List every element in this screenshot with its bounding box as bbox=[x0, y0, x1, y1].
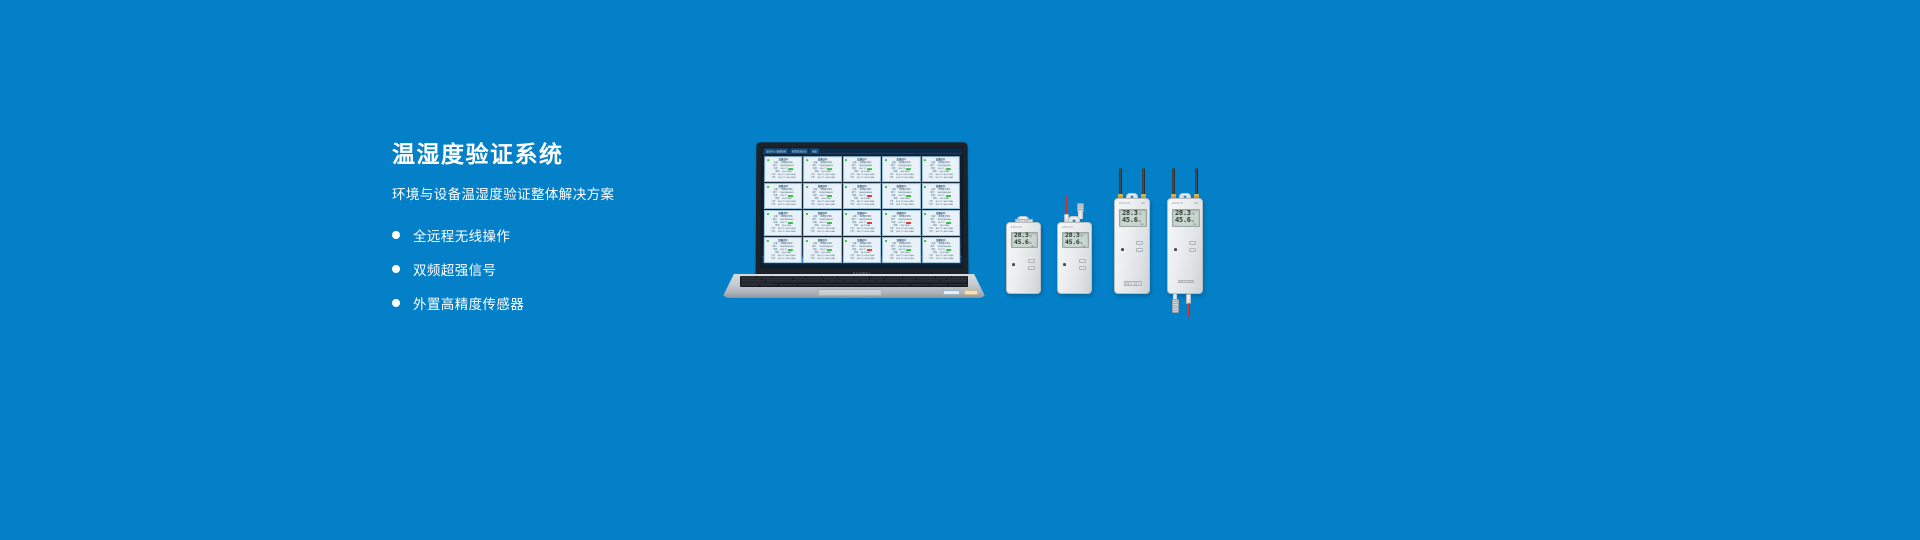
sensor-card[interactable]: 监测点01设备：温湿度记录仪编号：TH2024000001温度：28.3 ℃湿度… bbox=[922, 210, 961, 236]
sensor-field-key: 下限： bbox=[850, 258, 856, 261]
laptop-screen: 监控中心 数据管理 报警查询记录 报表 监测点01设备：温湿度记录仪编号：TH2… bbox=[761, 147, 964, 268]
lcd-humidity-line: 45.6 % bbox=[1065, 239, 1086, 246]
sensor-card-rows: 设备：温湿度记录仪编号：TH2024000001温度：28.3 ℃湿度：45.6… bbox=[885, 243, 918, 260]
normal-badge bbox=[906, 168, 911, 170]
sensor-field-key: 下限： bbox=[771, 177, 777, 180]
menu-item-report[interactable]: 报表 bbox=[810, 148, 819, 153]
page-subtitle: 环境与设备温湿度验证整体解决方案 bbox=[392, 183, 732, 203]
lcd-status: REC bbox=[1175, 224, 1197, 226]
vent-grill bbox=[1124, 281, 1142, 286]
sensor-card-row: 下限：20.0 ℃ / 30.0 %RH bbox=[846, 204, 878, 207]
sensor-card[interactable]: 监测点01设备：温湿度记录仪编号：TH2024000001温度：28.3 ℃湿度… bbox=[921, 156, 959, 182]
sensor-card-title: 监测点01 bbox=[885, 212, 917, 215]
sensor-card-rows: 设备：温湿度记录仪编号：TH2024000001温度：28.3 ℃湿度：45.6… bbox=[806, 162, 838, 179]
lcd-display: 28.3 ℃ 45.6 % REC bbox=[1011, 232, 1038, 248]
sensor-card-rows: 设备：温湿度记录仪编号：TH2024000001温度：28.3 ℃湿度：45.6… bbox=[806, 189, 838, 206]
brand-right: H8 bbox=[1141, 202, 1145, 205]
sensor-status-dot bbox=[766, 240, 768, 242]
sensor-field-value: 20.0 ℃ / 30.0 %RH bbox=[896, 258, 914, 261]
lcd-display: 28.3 ℃ 45.6 % REC bbox=[1062, 232, 1089, 248]
sensor-card[interactable]: 监测点01设备：温湿度记录仪编号：TH2024000001温度：28.3 ℃湿度… bbox=[882, 183, 920, 209]
sensor-status-dot bbox=[845, 186, 847, 188]
normal-badge bbox=[906, 249, 911, 251]
antenna-left bbox=[1119, 168, 1122, 196]
normal-badge bbox=[945, 168, 950, 170]
sensor-status-dot bbox=[767, 186, 769, 188]
sensor-card-rows: 设备：温湿度记录仪编号：TH2024000001温度：28.3 ℃湿度：45.6… bbox=[925, 216, 958, 233]
normal-badge bbox=[788, 249, 793, 251]
bullet-icon bbox=[392, 231, 400, 239]
device-button-down[interactable] bbox=[1136, 248, 1143, 252]
device-body: ENCON H8 28.3 ℃ 45.6 % REC bbox=[1167, 198, 1203, 294]
sensor-card-row: 下限：20.0 ℃ / 30.0 %RH bbox=[885, 231, 917, 234]
certification-sticker bbox=[964, 290, 978, 295]
temperature-unit: ℃ bbox=[1138, 213, 1141, 216]
device-button-up[interactable] bbox=[1189, 241, 1196, 245]
normal-badge bbox=[827, 195, 832, 197]
sensor-status-dot bbox=[924, 186, 926, 188]
humidity-unit: % bbox=[1138, 220, 1141, 223]
sensor-card[interactable]: 监测点01设备：温湿度记录仪编号：TH2024000001温度：28.3 ℃湿度… bbox=[882, 156, 920, 182]
sensor-field-value: 20.0 ℃ / 30.0 %RH bbox=[896, 231, 914, 234]
sensor-card-row: 下限：20.0 ℃ / 30.0 %RH bbox=[885, 258, 918, 261]
normal-badge bbox=[788, 168, 793, 170]
bullet-icon bbox=[392, 265, 400, 273]
sensor-card[interactable]: 监测点01设备：温湿度记录仪编号：TH2024000001温度：28.3 ℃湿度… bbox=[922, 183, 960, 209]
vent-grill bbox=[1178, 280, 1194, 283]
antenna-right bbox=[1142, 168, 1145, 196]
brand-left: ENCON bbox=[1172, 202, 1183, 205]
temperature-unit: ℃ bbox=[1191, 213, 1194, 216]
alarm-badge bbox=[867, 195, 872, 197]
lcd-humidity-line: 45.6 % bbox=[1122, 217, 1144, 224]
sensor-card-title: 监测点01 bbox=[806, 212, 838, 215]
device-brand: ENCON bbox=[1011, 226, 1036, 229]
laptop-base bbox=[722, 274, 986, 298]
sensor-card[interactable]: 监测点01设备：温湿度记录仪编号：TH2024000001温度：28.3 ℃湿度… bbox=[843, 210, 881, 236]
list-item: 外置高精度传感器 bbox=[392, 293, 732, 313]
sensor-card-title: 监测点01 bbox=[846, 212, 878, 215]
keyboard-key[interactable] bbox=[760, 284, 779, 285]
normal-badge bbox=[906, 195, 911, 197]
sensor-field-key: 下限： bbox=[850, 177, 856, 180]
sensor-field-value: 20.0 ℃ / 30.0 %RH bbox=[817, 258, 835, 261]
bullet-icon bbox=[392, 299, 400, 307]
menu-item-monitor[interactable]: 监控中心 数据管理 bbox=[764, 148, 788, 153]
keyboard-row bbox=[741, 284, 968, 285]
sensor-field-key: 下限： bbox=[810, 204, 816, 207]
sensor-field-key: 下限： bbox=[889, 204, 895, 207]
sensor-card-rows: 设备：温湿度记录仪编号：TH2024000001温度：28.3 ℃湿度：45.6… bbox=[846, 162, 878, 179]
sensor-card-row: 下限：20.0 ℃ / 30.0 %RH bbox=[925, 204, 957, 207]
device-brand: ENCON H8 bbox=[1172, 202, 1198, 205]
laptop-keyboard[interactable] bbox=[740, 276, 968, 287]
sensor-status-dot bbox=[845, 240, 847, 242]
sensor-card-rows: 设备：温湿度记录仪编号：TH2024000001温度：28.3 ℃湿度：45.6… bbox=[885, 189, 917, 206]
lcd-humidity-line: 45.6 % bbox=[1014, 239, 1035, 246]
sensor-card-title: 监测点01 bbox=[925, 240, 957, 243]
mesh-probe-head bbox=[1172, 299, 1179, 313]
sensor-status-dot bbox=[924, 159, 926, 161]
sensor-field-value: 20.0 ℃ / 30.0 %RH bbox=[857, 258, 875, 261]
sensor-card[interactable]: 监测点01设备：温湿度记录仪编号：TH2024000001温度：28.3 ℃湿度… bbox=[803, 237, 842, 263]
lcd-display: 28.3 ℃ 45.6 % REC bbox=[1172, 209, 1200, 227]
sensor-field-value: 20.0 ℃ / 30.0 %RH bbox=[857, 177, 874, 180]
device-button-up[interactable] bbox=[1028, 259, 1035, 263]
page-title: 温湿度验证系统 bbox=[392, 140, 732, 169]
list-item: 双频超强信号 bbox=[392, 259, 732, 279]
sensor-field-value: 20.0 ℃ / 30.0 %RH bbox=[778, 258, 796, 261]
sensor-device-group: ENCON 28.3 ℃ 45.6 % REC bbox=[1000, 190, 1220, 320]
sensor-card-rows: 设备：温湿度记录仪编号：TH2024000001温度：28.3 ℃湿度：45.6… bbox=[806, 243, 839, 260]
normal-badge bbox=[788, 195, 793, 197]
sensor-field-key: 下限： bbox=[810, 258, 816, 261]
sensor-field-value: 20.0 ℃ / 30.0 %RH bbox=[936, 204, 953, 207]
sensor-status-dot bbox=[806, 159, 808, 161]
sensor-card-row: 下限：20.0 ℃ / 30.0 %RH bbox=[767, 258, 799, 261]
sensor-card-row: 下限：20.0 ℃ / 30.0 %RH bbox=[767, 177, 799, 180]
device-brand: ENCON H8 bbox=[1119, 202, 1145, 205]
sensor-field-key: 下限： bbox=[771, 258, 777, 261]
sensor-field-key: 下限： bbox=[850, 231, 856, 234]
sensor-status-dot bbox=[767, 159, 769, 161]
sensor-card-title: 监测点01 bbox=[807, 159, 839, 162]
status-led bbox=[1121, 248, 1124, 251]
sensor-status-dot bbox=[885, 240, 887, 242]
sensor-field-key: 下限： bbox=[889, 258, 895, 261]
device-body: ENCON 28.3 ℃ 45.6 % REC bbox=[1057, 222, 1092, 294]
sensor-card-row: 下限：20.0 ℃ / 30.0 %RH bbox=[806, 231, 838, 234]
lcd-status: REC bbox=[1065, 246, 1086, 248]
sensor-card-title: 监测点01 bbox=[846, 186, 878, 189]
sensor-field-value: 20.0 ℃ / 30.0 %RH bbox=[778, 204, 795, 207]
sensor-card-row: 下限：20.0 ℃ / 30.0 %RH bbox=[925, 258, 958, 261]
banner-text-block: 温湿度验证系统 环境与设备温湿度验证整体解决方案 全远程无线操作 双频超强信号 … bbox=[392, 140, 732, 327]
device-button-down[interactable] bbox=[1189, 248, 1196, 252]
sensor-card-rows: 设备：温湿度记录仪编号：TH2024000001温度：28.3 ℃湿度：45.6… bbox=[767, 243, 800, 260]
sensor-field-value: 20.0 ℃ / 30.0 %RH bbox=[778, 177, 795, 180]
sensor-card-row: 下限：20.0 ℃ / 30.0 %RH bbox=[806, 177, 838, 180]
device-body: ENCON 28.3 ℃ 45.6 % REC bbox=[1006, 222, 1041, 294]
sensor-status-dot bbox=[766, 212, 768, 214]
sensor-card[interactable]: 监测点01设备：温湿度记录仪编号：TH2024000001温度：28.3 ℃湿度… bbox=[764, 156, 802, 182]
sensor-card-row: 下限：20.0 ℃ / 30.0 %RH bbox=[767, 231, 799, 234]
feature-label: 全远程无线操作 bbox=[413, 225, 510, 245]
normal-badge bbox=[828, 168, 833, 170]
sensor-card-rows: 设备：温湿度记录仪编号：TH2024000001温度：28.3 ℃湿度：45.6… bbox=[846, 189, 878, 206]
normal-badge bbox=[867, 168, 872, 170]
device-body: ENCON H8 28.3 ℃ 45.6 % REC bbox=[1114, 198, 1150, 294]
sensor-card-row: 下限：20.0 ℃ / 30.0 %RH bbox=[767, 204, 799, 207]
sensor-field-key: 下限： bbox=[929, 204, 935, 207]
sensor-field-key: 下限： bbox=[929, 231, 935, 234]
sensor-field-value: 20.0 ℃ / 30.0 %RH bbox=[778, 231, 796, 234]
sensor-status-dot bbox=[924, 212, 926, 214]
sensor-card-title: 监测点01 bbox=[846, 159, 878, 162]
normal-badge bbox=[946, 195, 951, 197]
sensor-card[interactable]: 监测点01设备：温湿度记录仪编号：TH2024000001温度：28.3 ℃湿度… bbox=[803, 183, 841, 209]
sensor-field-key: 下限： bbox=[810, 231, 816, 234]
sensor-card-grid: 监测点01设备：温湿度记录仪编号：TH2024000001温度：28.3 ℃湿度… bbox=[762, 154, 963, 256]
keyboard-key[interactable] bbox=[930, 284, 949, 285]
sensor-card-title: 监测点01 bbox=[767, 212, 799, 215]
keyboard-key[interactable] bbox=[911, 284, 930, 285]
sensor-card-title: 监测点01 bbox=[767, 159, 799, 162]
keyboard-key[interactable] bbox=[741, 284, 760, 285]
sensor-card-title: 监测点01 bbox=[885, 159, 917, 162]
red-cable bbox=[1188, 303, 1189, 317]
device-button-up[interactable] bbox=[1079, 259, 1086, 263]
sensor-field-value: 20.0 ℃ / 30.0 %RH bbox=[896, 177, 913, 180]
sensor-card-title: 监测点01 bbox=[767, 186, 799, 189]
status-led bbox=[1063, 263, 1066, 266]
sensor-field-key: 下限： bbox=[771, 231, 777, 234]
laptop-product-image: 监控中心 数据管理 报警查询记录 报表 监测点01设备：温湿度记录仪编号：TH2… bbox=[722, 142, 986, 298]
keyboard-key[interactable] bbox=[798, 284, 891, 285]
keyboard-key[interactable] bbox=[949, 284, 968, 285]
sensor-status-dot bbox=[845, 159, 847, 161]
sensor-card-title: 监测点01 bbox=[806, 186, 838, 189]
sensor-status-dot bbox=[885, 159, 887, 161]
device-c: ENCON H8 28.3 ℃ 45.6 % REC bbox=[1114, 198, 1150, 294]
sensor-card-title: 监测点01 bbox=[885, 186, 917, 189]
sensor-status-dot bbox=[885, 212, 887, 214]
spec-sticker bbox=[943, 290, 960, 295]
sensor-field-value: 20.0 ℃ / 30.0 %RH bbox=[936, 258, 954, 261]
sensor-status-dot bbox=[806, 186, 808, 188]
device-button-down[interactable] bbox=[1028, 266, 1035, 270]
sensor-status-dot bbox=[806, 212, 808, 214]
sensor-card-rows: 设备：温湿度记录仪编号：TH2024000001温度：28.3 ℃湿度：45.6… bbox=[806, 216, 838, 233]
sensor-card-title: 监测点01 bbox=[806, 240, 838, 243]
sensor-card[interactable]: 监测点01设备：温湿度记录仪编号：TH2024000001温度：28.3 ℃湿度… bbox=[764, 210, 803, 236]
feature-label: 外置高精度传感器 bbox=[413, 293, 524, 313]
sensor-card[interactable]: 监测点01设备：温湿度记录仪编号：TH2024000001温度：28.3 ℃湿度… bbox=[843, 183, 881, 209]
sensor-field-key: 下限： bbox=[771, 204, 777, 207]
sensor-card[interactable]: 监测点01设备：温湿度记录仪编号：TH2024000001温度：28.3 ℃湿度… bbox=[764, 183, 802, 209]
lid-open-notch bbox=[841, 296, 867, 297]
sensor-card[interactable]: 监测点01设备：温湿度记录仪编号：TH2024000001温度：28.3 ℃湿度… bbox=[922, 237, 961, 263]
sensor-field-key: 下限： bbox=[889, 231, 895, 234]
brand-left: ENCON bbox=[1011, 226, 1022, 229]
sensor-card-row: 下限：20.0 ℃ / 30.0 %RH bbox=[885, 204, 917, 207]
feature-label: 双频超强信号 bbox=[413, 259, 496, 279]
sensor-card[interactable]: 监测点01设备：温湿度记录仪编号：TH2024000001温度：28.3 ℃湿度… bbox=[843, 156, 881, 182]
list-item: 全远程无线操作 bbox=[392, 225, 732, 245]
humidity-value: 45.6 bbox=[1122, 217, 1138, 224]
sensor-field-key: 下限： bbox=[810, 177, 816, 180]
alarm-badge bbox=[906, 222, 911, 224]
sensor-card[interactable]: 监测点01设备：温湿度记录仪编号：TH2024000001温度：28.3 ℃湿度… bbox=[764, 237, 803, 263]
sensor-field-value: 20.0 ℃ / 30.0 %RH bbox=[817, 231, 835, 234]
menu-item-alarm[interactable]: 报警查询记录 bbox=[790, 148, 808, 153]
laptop-trackpad[interactable] bbox=[818, 289, 882, 296]
sensor-field-value: 20.0 ℃ / 30.0 %RH bbox=[896, 204, 913, 207]
sensor-card[interactable]: 监测点01设备：温湿度记录仪编号：TH2024000001温度：28.3 ℃湿度… bbox=[803, 210, 841, 236]
humidity-value: 45.6 bbox=[1175, 217, 1191, 224]
sensor-card-row: 下限：20.0 ℃ / 30.0 %RH bbox=[846, 177, 878, 180]
antenna-left bbox=[1172, 168, 1175, 196]
sensor-field-key: 下限： bbox=[929, 258, 935, 261]
sensor-status-dot bbox=[924, 240, 926, 242]
feature-list: 全远程无线操作 双频超强信号 外置高精度传感器 bbox=[392, 225, 732, 313]
sensor-card-row: 下限：20.0 ℃ / 30.0 %RH bbox=[885, 177, 917, 180]
keyboard-key[interactable] bbox=[891, 284, 910, 285]
device-a: ENCON 28.3 ℃ 45.6 % REC bbox=[1006, 222, 1041, 294]
sensor-field-key: 下限： bbox=[850, 204, 856, 207]
sensor-card-rows: 设备：温湿度记录仪编号：TH2024000001温度：28.3 ℃湿度：45.6… bbox=[885, 162, 917, 179]
sensor-card-title: 监测点01 bbox=[924, 159, 956, 162]
sensor-field-value: 20.0 ℃ / 30.0 %RH bbox=[857, 204, 874, 207]
sensor-field-key: 下限： bbox=[889, 177, 895, 180]
sensor-field-value: 20.0 ℃ / 30.0 %RH bbox=[817, 204, 834, 207]
sensor-field-key: 下限： bbox=[928, 177, 934, 180]
sensor-card-title: 监测点01 bbox=[885, 240, 917, 243]
normal-badge bbox=[946, 249, 951, 251]
sensor-card-row: 下限：20.0 ℃ / 30.0 %RH bbox=[924, 177, 956, 180]
sensor-card-rows: 设备：温湿度记录仪编号：TH2024000001温度：28.3 ℃湿度：45.6… bbox=[925, 189, 957, 206]
sensor-status-dot bbox=[885, 186, 887, 188]
antenna-right bbox=[1195, 168, 1198, 196]
sensor-field-value: 20.0 ℃ / 30.0 %RH bbox=[817, 177, 834, 180]
sensor-card-title: 监测点01 bbox=[925, 212, 957, 215]
normal-badge bbox=[827, 249, 832, 251]
sensor-card[interactable]: 监测点01设备：温湿度记录仪编号：TH2024000001温度：28.3 ℃湿度… bbox=[882, 210, 920, 236]
sensor-card-row: 下限：20.0 ℃ / 30.0 %RH bbox=[925, 231, 957, 234]
sensor-card-rows: 设备：温湿度记录仪编号：TH2024000001温度：28.3 ℃湿度：45.6… bbox=[767, 216, 799, 233]
sensor-card-rows: 设备：温湿度记录仪编号：TH2024000001温度：28.3 ℃湿度：45.6… bbox=[885, 216, 917, 233]
sensor-card[interactable]: 监测点01设备：温湿度记录仪编号：TH2024000001温度：28.3 ℃湿度… bbox=[803, 156, 841, 182]
brand-left: ENCON bbox=[1119, 202, 1130, 205]
sensor-card-row: 下限：20.0 ℃ / 30.0 %RH bbox=[806, 204, 838, 207]
humidity-value: 45.6 bbox=[1065, 239, 1079, 246]
sensor-card-row: 下限：20.0 ℃ / 30.0 %RH bbox=[846, 231, 878, 234]
normal-badge bbox=[827, 222, 832, 224]
sensor-field-value: 20.0 ℃ / 30.0 %RH bbox=[935, 177, 952, 180]
humidity-value: 45.6 bbox=[1014, 239, 1028, 246]
device-b: ENCON 28.3 ℃ 45.6 % REC bbox=[1057, 222, 1092, 294]
sensor-card-title: 监测点01 bbox=[767, 240, 799, 243]
sensor-card-rows: 设备：温湿度记录仪编号：TH2024000001温度：28.3 ℃湿度：45.6… bbox=[767, 189, 799, 206]
sensor-card-rows: 设备：温湿度记录仪编号：TH2024000001温度：28.3 ℃湿度：45.6… bbox=[767, 162, 799, 179]
lcd-display: 28.3 ℃ 45.6 % REC bbox=[1119, 209, 1147, 227]
sensor-card[interactable]: 监测点01设备：温湿度记录仪编号：TH2024000001温度：28.3 ℃湿度… bbox=[843, 237, 882, 263]
sensor-card[interactable]: 监测点01设备：温湿度记录仪编号：TH2024000001温度：28.3 ℃湿度… bbox=[882, 237, 921, 263]
sensor-card-title: 监测点01 bbox=[925, 186, 957, 189]
device-brand: ENCON bbox=[1062, 226, 1087, 229]
sensor-card-title: 监测点01 bbox=[846, 240, 878, 243]
sensor-status-dot bbox=[845, 212, 847, 214]
device-d: ENCON H8 28.3 ℃ 45.6 % REC bbox=[1167, 198, 1203, 294]
device-button-down[interactable] bbox=[1079, 266, 1086, 270]
sensor-card-rows: 设备：温湿度记录仪编号：TH2024000001温度：28.3 ℃湿度：45.6… bbox=[925, 243, 958, 260]
status-led bbox=[1012, 263, 1015, 266]
sensor-field-value: 20.0 ℃ / 30.0 %RH bbox=[936, 231, 954, 234]
device-button-up[interactable] bbox=[1136, 241, 1143, 245]
lcd-status: REC bbox=[1122, 224, 1144, 226]
sensor-card-rows: 设备：温湿度记录仪编号：TH2024000001温度：28.3 ℃湿度：45.6… bbox=[846, 243, 878, 260]
brand-left: ENCON bbox=[1062, 226, 1073, 229]
sensor-status-dot bbox=[806, 240, 808, 242]
status-led bbox=[1174, 248, 1177, 251]
sensor-card-rows: 设备：温湿度记录仪编号：TH2024000001温度：28.3 ℃湿度：45.6… bbox=[924, 162, 956, 179]
normal-badge bbox=[946, 222, 951, 224]
humidity-unit: % bbox=[1191, 220, 1194, 223]
alarm-badge bbox=[867, 222, 872, 224]
laptop-lid: 监控中心 数据管理 报警查询记录 报表 监测点01设备：温湿度记录仪编号：TH2… bbox=[756, 142, 969, 277]
lcd-humidity-line: 45.6 % bbox=[1175, 217, 1197, 224]
sensor-card-row: 下限：20.0 ℃ / 30.0 %RH bbox=[806, 258, 839, 261]
sensor-card-row: 下限：20.0 ℃ / 30.0 %RH bbox=[846, 258, 878, 261]
lcd-status: REC bbox=[1014, 246, 1035, 248]
sensor-field-value: 20.0 ℃ / 30.0 %RH bbox=[857, 231, 875, 234]
brand-right: H8 bbox=[1194, 202, 1198, 205]
normal-badge bbox=[788, 222, 793, 224]
sensor-card-rows: 设备：温湿度记录仪编号：TH2024000001温度：28.3 ℃湿度：45.6… bbox=[846, 216, 878, 233]
alarm-badge bbox=[867, 249, 872, 251]
keyboard-key[interactable] bbox=[779, 284, 798, 285]
